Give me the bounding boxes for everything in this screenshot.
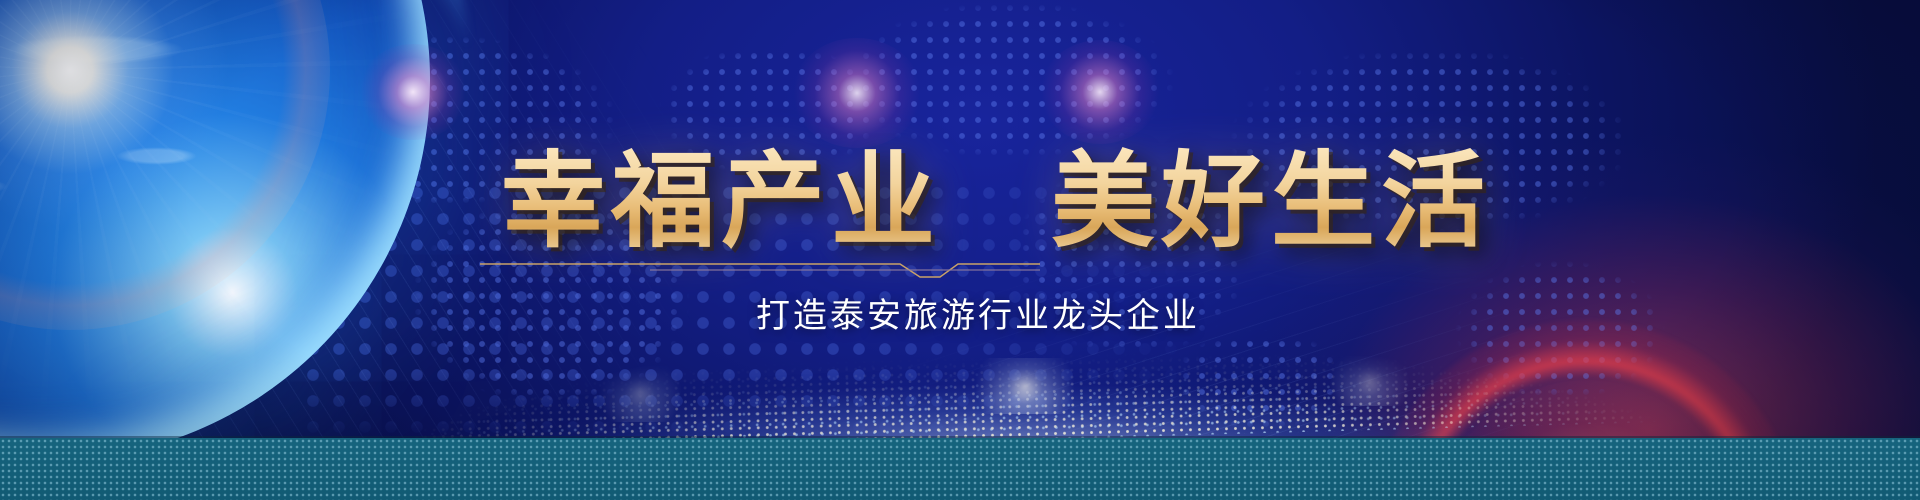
banner-subtitle: 打造泰安旅游行业龙头企业 bbox=[0, 288, 1920, 337]
title-sparkle-icon bbox=[792, 38, 922, 148]
title-sparkle-icon bbox=[1040, 40, 1160, 144]
footer-strip bbox=[0, 438, 1920, 500]
hero-banner: 幸福产业 美好生活 打造泰安旅游行业龙头企业 bbox=[0, 0, 1920, 500]
banner-content: 幸福产业 美好生活 打造泰安旅游行业龙头企业 bbox=[0, 0, 1920, 500]
divider bbox=[480, 258, 1040, 280]
title-sparkle-icon bbox=[358, 44, 468, 140]
banner-headline: 幸福产业 美好生活 bbox=[0, 144, 1920, 260]
